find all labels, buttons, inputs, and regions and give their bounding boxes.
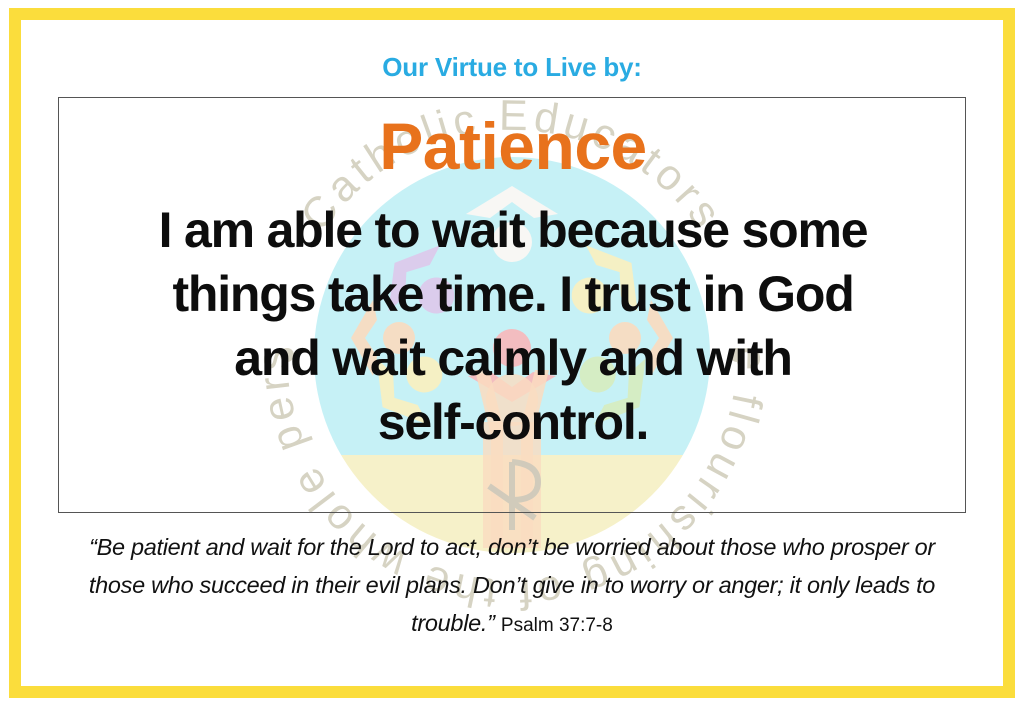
virtue-statement: I am able to wait because some things ta… (85, 198, 941, 454)
slide-content: Our Virtue to Live by: Patience I am abl… (0, 0, 1024, 706)
statement-line: self-control. (85, 390, 941, 454)
virtue-name-heading: Patience (59, 112, 967, 181)
statement-line: and wait calmly and with (85, 326, 941, 390)
scripture-reference: Psalm 37:7-8 (501, 615, 613, 636)
virtue-kicker-label: Our Virtue to Live by: (0, 52, 1024, 83)
statement-line: I am able to wait because some (85, 198, 941, 262)
virtue-slide: Catholic Educators The flourishing of th… (0, 0, 1024, 706)
virtue-text-box: Patience I am able to wait because some … (58, 97, 966, 513)
statement-line: things take time. I trust in God (85, 262, 941, 326)
scripture-quote-block: “Be patient and wait for the Lord to act… (74, 528, 950, 642)
